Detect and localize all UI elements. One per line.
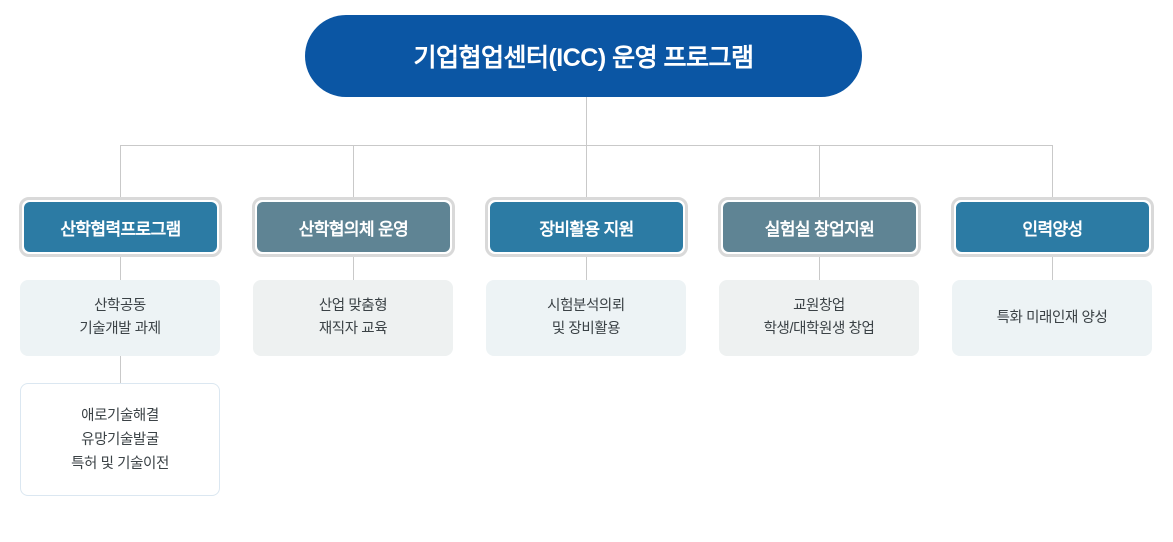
root-node-label: 기업협업센터(ICC) 운영 프로그램 [413, 38, 753, 74]
column-body-3-line-1: 시험분석의뢰 [547, 295, 625, 318]
column-header-5[interactable]: 인력양성 [951, 197, 1154, 257]
connector-body-to-leaf-col-1 [120, 356, 121, 383]
column-body-1: 산학공동 기술개발 과제 [20, 280, 220, 356]
column-body-4: 교원창업 학생/대학원생 창업 [719, 280, 919, 356]
column-header-2[interactable]: 산학협의체 운영 [252, 197, 455, 257]
column-body-4-line-2: 학생/대학원생 창업 [764, 318, 875, 341]
column-body-1-line-2: 기술개발 과제 [79, 318, 160, 341]
connector-drop-col-4 [819, 145, 820, 197]
connector-head-to-body-col-1 [120, 257, 121, 280]
connector-head-to-body-col-5 [1052, 257, 1053, 280]
column-body-4-line-1: 교원창업 [793, 295, 845, 318]
connector-head-to-body-col-3 [586, 257, 587, 280]
column-header-3[interactable]: 장비활용 지원 [485, 197, 688, 257]
column-header-1-fill: 산학협력프로그램 [24, 202, 217, 252]
column-leaf-1-line-3: 특허 및 기술이전 [71, 452, 169, 476]
column-header-3-label: 장비활용 지원 [539, 215, 633, 240]
column-body-2: 산업 맞춤형 재직자 교육 [253, 280, 453, 356]
column-header-4[interactable]: 실험실 창업지원 [718, 197, 921, 257]
column-body-3: 시험분석의뢰 및 장비활용 [486, 280, 686, 356]
column-header-3-fill: 장비활용 지원 [490, 202, 683, 252]
column-leaf-1: 애로기술해결 유망기술발굴 특허 및 기술이전 [20, 383, 220, 496]
column-header-4-label: 실험실 창업지원 [765, 215, 874, 240]
column-header-5-fill: 인력양성 [956, 202, 1149, 252]
connector-drop-col-5 [1052, 145, 1053, 197]
connector-head-to-body-col-4 [819, 257, 820, 280]
column-header-1-label: 산학협력프로그램 [60, 215, 180, 240]
connector-drop-col-3 [586, 145, 587, 197]
column-leaf-1-line-1: 애로기술해결 [81, 404, 159, 428]
column-body-2-line-2: 재직자 교육 [319, 318, 387, 341]
column-header-5-label: 인력양성 [1022, 215, 1082, 240]
root-node: 기업협업센터(ICC) 운영 프로그램 [305, 15, 862, 97]
column-header-2-label: 산학협의체 운영 [299, 215, 408, 240]
column-body-1-line-1: 산학공동 [94, 295, 146, 318]
connector-root-stem [586, 97, 587, 145]
connector-head-to-body-col-2 [353, 257, 354, 280]
column-body-3-line-2: 및 장비활용 [552, 318, 620, 341]
org-chart: 기업협업센터(ICC) 운영 프로그램 산학협력프로그램 산학공동 기술개발 과… [0, 0, 1173, 542]
connector-drop-col-1 [120, 145, 121, 197]
column-leaf-1-line-2: 유망기술발굴 [81, 428, 159, 452]
column-body-5: 특화 미래인재 양성 [952, 280, 1152, 356]
column-header-2-fill: 산학협의체 운영 [257, 202, 450, 252]
column-body-2-line-1: 산업 맞춤형 [319, 295, 387, 318]
column-body-5-line-1: 특화 미래인재 양성 [997, 307, 1108, 330]
connector-drop-col-2 [353, 145, 354, 197]
column-header-4-fill: 실험실 창업지원 [723, 202, 916, 252]
column-header-1[interactable]: 산학협력프로그램 [19, 197, 222, 257]
